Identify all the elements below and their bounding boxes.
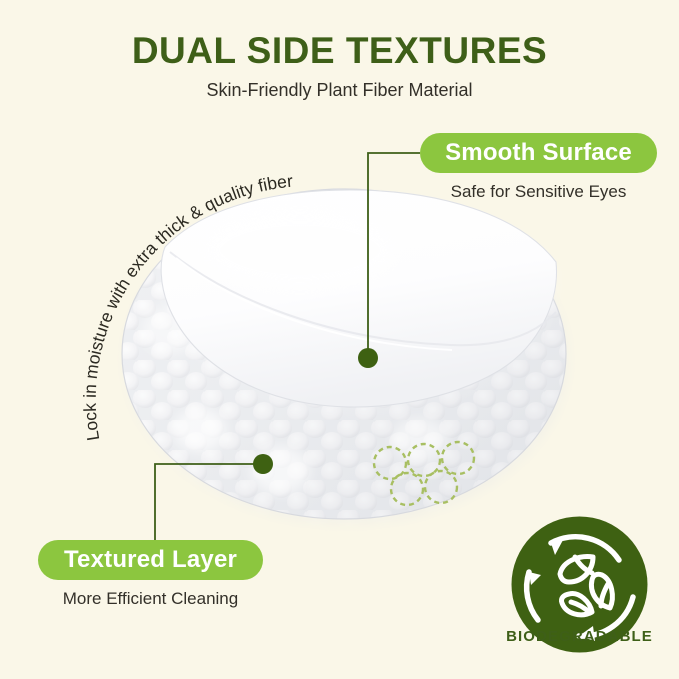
biodegradable-label: BIODEGRADABLE bbox=[497, 628, 662, 645]
page-title: DUAL SIDE TEXTURES bbox=[0, 30, 679, 72]
caption-textured-layer: More Efficient Cleaning bbox=[38, 589, 263, 609]
page-subtitle: Skin-Friendly Plant Fiber Material bbox=[0, 80, 679, 101]
badge-textured-layer[interactable]: Textured Layer bbox=[38, 540, 263, 580]
caption-smooth-surface: Safe for Sensitive Eyes bbox=[420, 182, 657, 202]
infographic-canvas: Lock in moisture with extra thick & qual… bbox=[0, 0, 679, 679]
curved-text-label: Lock in moisture with extra thick & qual… bbox=[80, 171, 294, 443]
badge-smooth-surface[interactable]: Smooth Surface bbox=[420, 133, 657, 173]
